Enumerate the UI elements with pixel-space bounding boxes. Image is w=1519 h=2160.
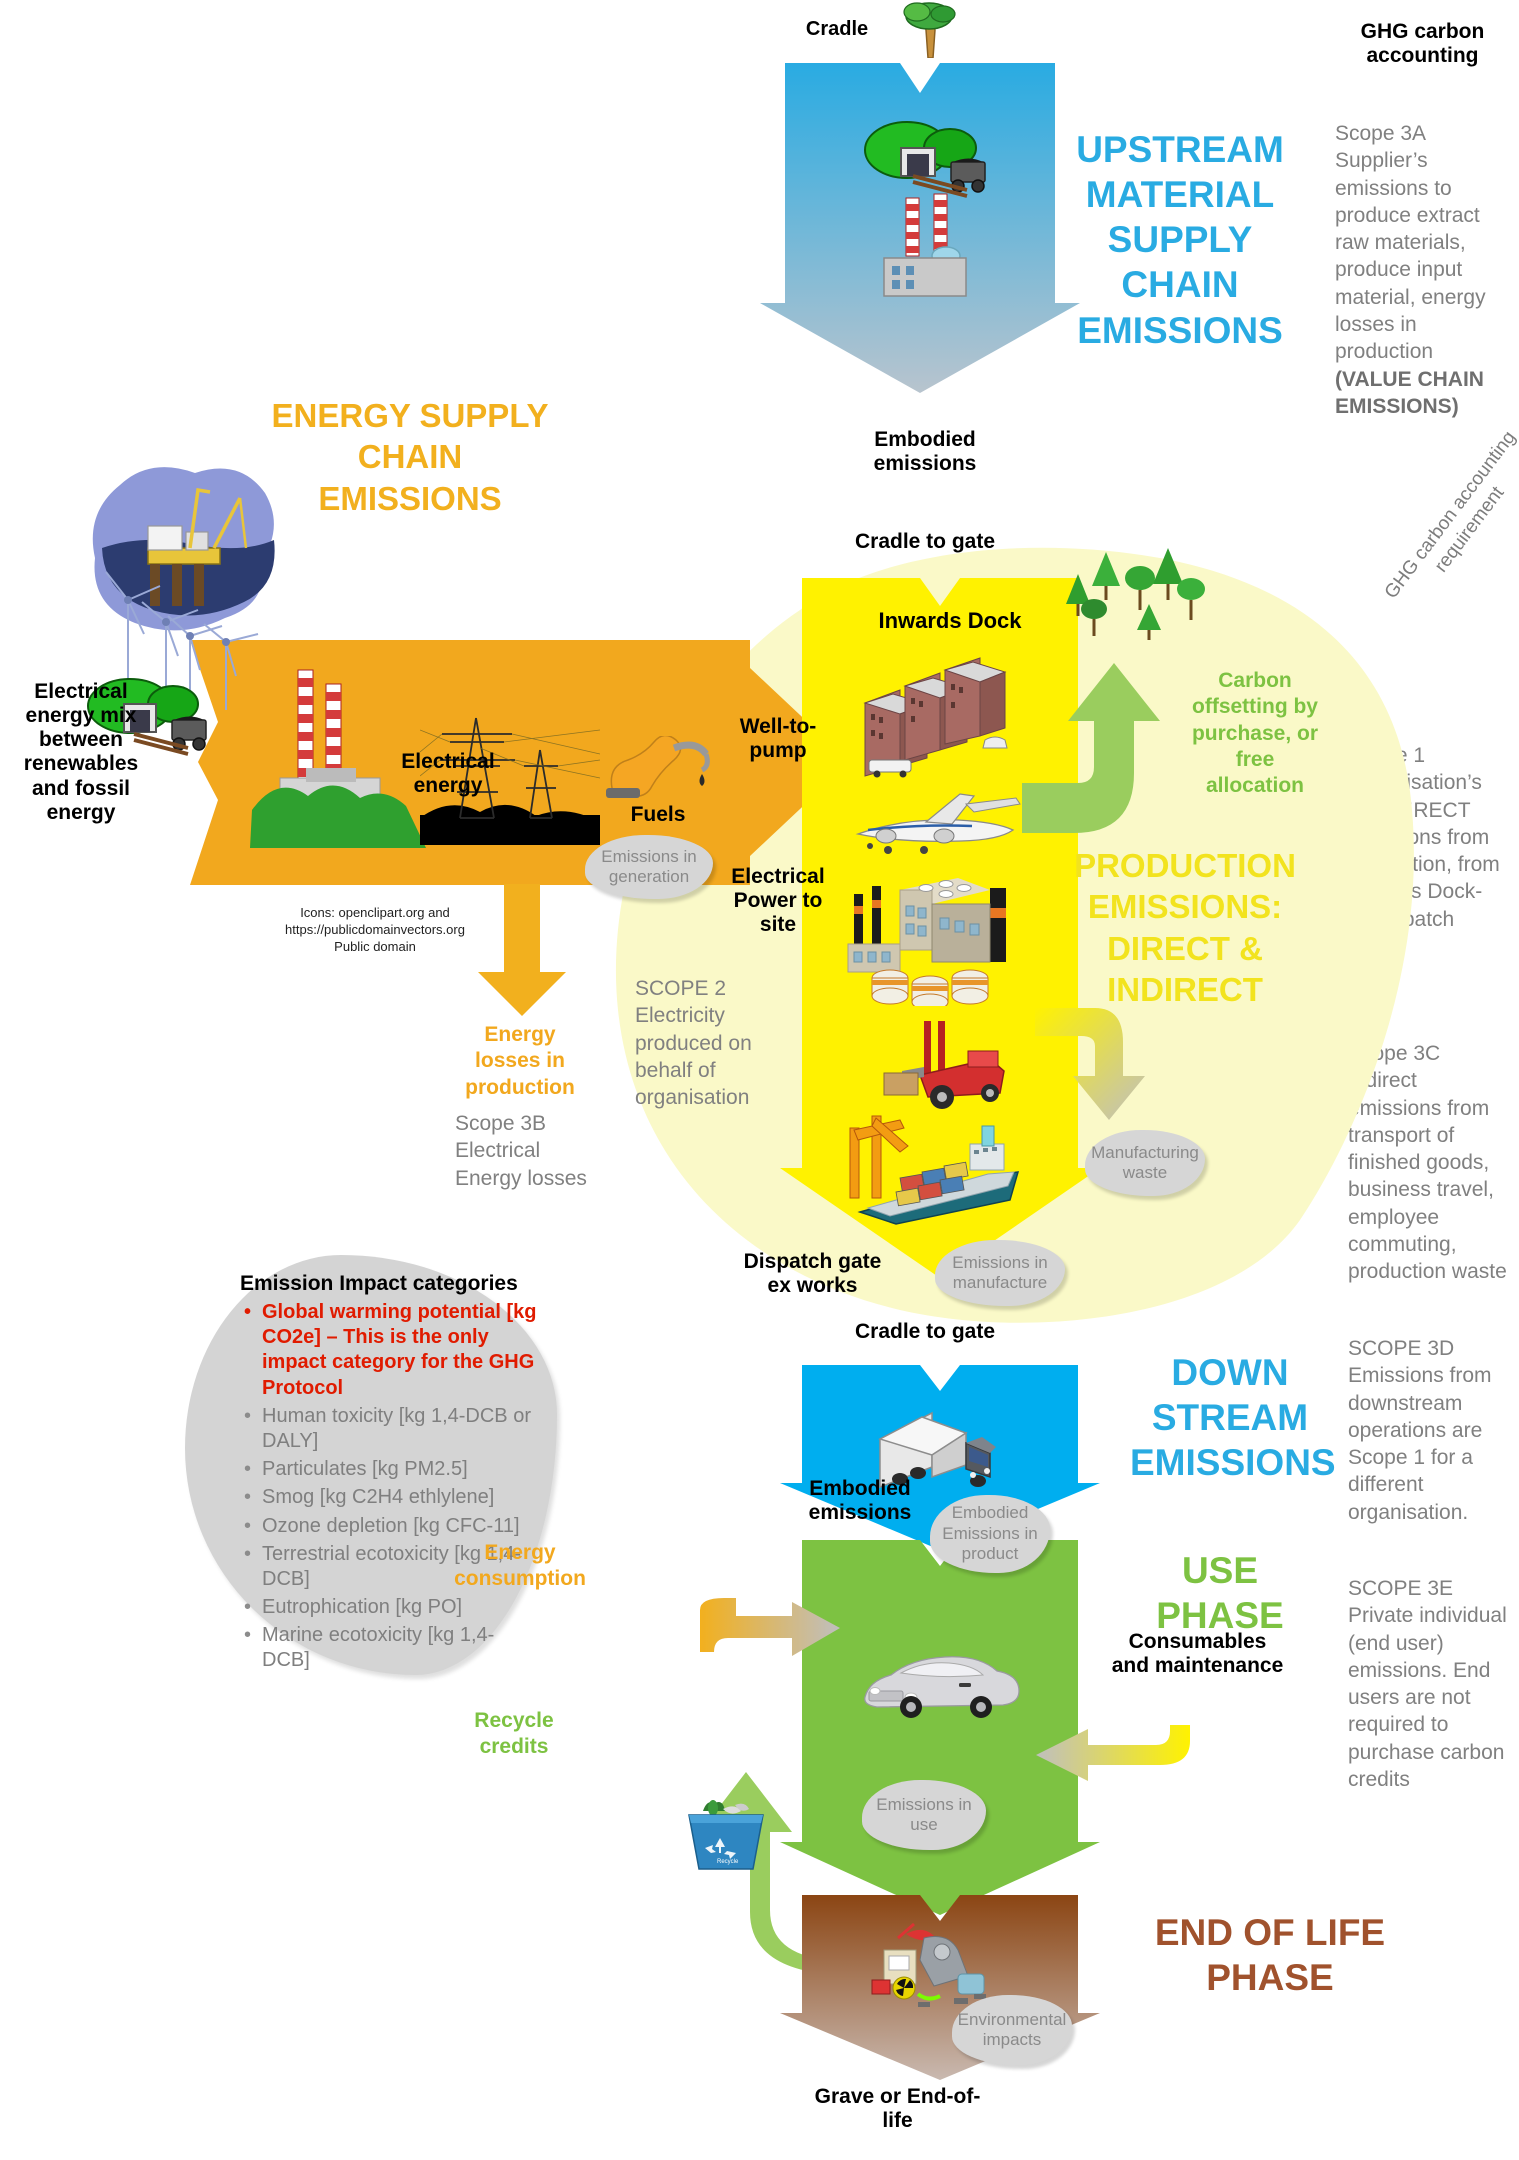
recycle-bin-icon: Recycle (683, 1795, 769, 1875)
icons-credit: Icons: openclipart.org and https://publi… (275, 905, 475, 956)
grave-label: Grave or End-of-life (805, 2085, 990, 2133)
impact-categories-box: Emission Impact categories Global warmin… (240, 1272, 540, 1677)
impact-item-6: Eutrophication [kg PO] (262, 1595, 540, 1620)
cloud-manufacturing-waste-text: Manufacturing waste (1085, 1143, 1205, 1184)
cloud-emissions-in-generation: Emissions in generation (585, 835, 713, 899)
ghg-accounting-heading: GHG carbon accounting (1335, 20, 1510, 68)
forklift-icon (872, 1015, 1017, 1110)
tree-icon (895, 0, 965, 58)
impact-categories-list: Global warming potential [kg CO2e] – Thi… (240, 1300, 540, 1674)
scope-3d-text: SCOPE 3D Emissions from downstream opera… (1348, 1335, 1508, 1526)
scope-3e-text: SCOPE 3E Private individual (end user) e… (1348, 1575, 1513, 1793)
scope-3b-text: Scope 3B Electrical Energy losses (455, 1110, 590, 1192)
cloud-emissions-in-generation-text: Emissions in generation (585, 847, 713, 888)
inwards-dock-label: Inwards Dock (860, 608, 1040, 633)
cloud-environmental-impacts: Environmental impacts (952, 1995, 1072, 2065)
scope-3a-bold: (VALUE CHAIN EMISSIONS) (1335, 368, 1484, 418)
end-of-life-title: END OF LIFE PHASE (1150, 1910, 1390, 2000)
car-icon (855, 1645, 1020, 1720)
impact-item-7: Marine ecotoxicity [kg 1,4-DCB] (262, 1623, 540, 1673)
cloud-manufacturing-waste: Manufacturing waste (1085, 1130, 1205, 1196)
manufacturing-waste-arrow (1035, 1000, 1180, 1125)
cloud-embodied-in-product: Embodied Emissions in product (930, 1495, 1050, 1573)
svg-text:Recycle: Recycle (717, 1859, 739, 1865)
airplane-icon (848, 790, 1023, 860)
cloud-environmental-impacts-text: Environmental impacts (952, 2010, 1072, 2051)
scope-3a-body: Scope 3A Supplier’s emissions to produce… (1335, 122, 1486, 363)
electrical-energy-label: Electrical energy (383, 750, 513, 798)
container-ship-icon (838, 1100, 1028, 1230)
industrial-plant-icon (840, 866, 1020, 1006)
consumables-label: Consumables and maintenance (1110, 1630, 1285, 1678)
well-to-pump-label: Well-to-pump (718, 715, 838, 763)
factory-icon (862, 180, 997, 300)
dispatch-gate-label: Dispatch gate ex works (730, 1250, 895, 1298)
consumables-arrow (1030, 1725, 1190, 1797)
scope-2-text: SCOPE 2 Electricity produced on behalf o… (635, 975, 780, 1111)
cloud-emissions-in-use-text: Emissions in use (862, 1795, 986, 1836)
cloud-emissions-in-manufacture: Emissions in manufacture (935, 1240, 1065, 1306)
use-phase-title: USE PHASE (1130, 1548, 1310, 1638)
impact-item-3: Smog [kg C2H4 ethlylene] (262, 1485, 540, 1510)
downstream-title: DOWN STREAM EMISSIONS (1130, 1350, 1330, 1485)
cradle-to-gate-mid-label: Cradle to gate (840, 1320, 1010, 1344)
scope-3a-text: Scope 3A Supplier’s emissions to produce… (1335, 120, 1500, 420)
electrical-energy-mix-label: Electrical energy mix between renewables… (6, 680, 156, 825)
energy-consumption-arrow (700, 1598, 840, 1660)
electrical-power-to-site-label: Electrical Power to site (718, 865, 838, 937)
city-buildings-icon (845, 648, 1010, 783)
cloud-emissions-in-use: Emissions in use (862, 1780, 986, 1850)
energy-supply-chain-title: ENERGY SUPPLY CHAIN EMISSIONS (265, 395, 555, 519)
forest-icon (1060, 542, 1210, 652)
embodied-emissions-top-label: Embodied emissions (830, 428, 1020, 476)
fuel-pump-icon (604, 736, 714, 808)
recycle-credits-label: Recycle credits (450, 1708, 578, 1761)
production-emissions-title: PRODUCTION EMISSIONS: DIRECT & INDIRECT (1055, 845, 1315, 1010)
fuels-label: Fuels (610, 803, 706, 827)
carbon-offsetting-label: Carbon offsetting by purchase, or free a… (1185, 668, 1325, 799)
impact-item-2: Particulates [kg PM2.5] (262, 1457, 540, 1482)
embodied-emissions-down-label: Embodied emissions (790, 1477, 930, 1525)
energy-consumption-label: Energy consumption (450, 1540, 590, 1593)
impact-item-1: Human toxicity [kg 1,4-DCB or DALY] (262, 1404, 540, 1454)
impact-item-4: Ozone depletion [kg CFC-11] (262, 1514, 540, 1539)
impact-item-0: Global warming potential [kg CO2e] – Thi… (262, 1300, 540, 1401)
cloud-embodied-in-product-text: Embodied Emissions in product (930, 1503, 1050, 1564)
energy-losses-arrow (478, 884, 566, 1016)
cradle-label: Cradle (787, 18, 887, 41)
energy-losses-label: Energy losses in production (455, 1022, 585, 1101)
upstream-title: UPSTREAM MATERIAL SUPPLY CHAIN EMISSIONS (1060, 127, 1300, 353)
impact-categories-title: Emission Impact categories (240, 1272, 540, 1296)
carbon-offsetting-arrow (1022, 655, 1172, 845)
cloud-emissions-in-manufacture-text: Emissions in manufacture (935, 1253, 1065, 1294)
